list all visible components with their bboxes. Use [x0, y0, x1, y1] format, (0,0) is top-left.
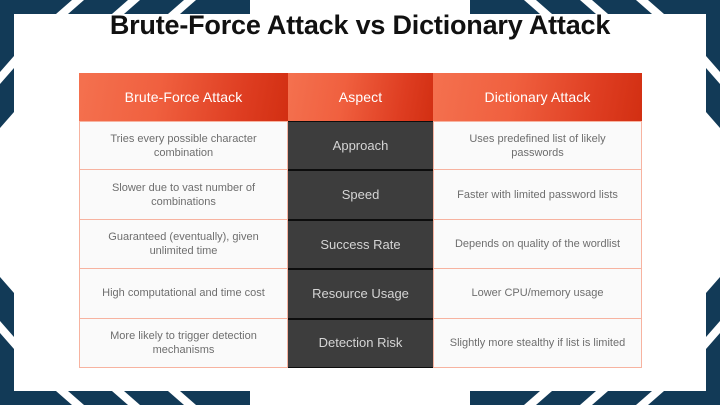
cell-brute-force: High computational and time cost [79, 269, 288, 318]
cell-brute-force: Slower due to vast number of combination… [79, 170, 288, 219]
cell-dictionary: Lower CPU/memory usage [433, 269, 642, 318]
column-header-dictionary-label: Dictionary Attack [485, 89, 591, 105]
cell-aspect: Approach [288, 121, 433, 170]
column-header-aspect: Aspect [288, 73, 433, 121]
table-row: Guaranteed (eventually), given unlimited… [79, 220, 642, 269]
table-header-row: Brute-Force Attack Aspect Dictionary Att… [79, 73, 642, 121]
cell-aspect: Speed [288, 170, 433, 219]
cell-brute-force: More likely to trigger detection mechani… [79, 319, 288, 368]
cell-dictionary-text: Slightly more stealthy if list is limite… [450, 336, 625, 350]
column-header-brute-force-label: Brute-Force Attack [125, 89, 243, 105]
cell-brute-force-text: Guaranteed (eventually), given unlimited… [88, 230, 279, 258]
table-row: High computational and time cost Resourc… [79, 269, 642, 318]
table-row: More likely to trigger detection mechani… [79, 319, 642, 368]
cell-aspect: Detection Risk [288, 319, 433, 368]
cell-dictionary-text: Uses predefined list of likely passwords [442, 132, 633, 160]
slide-canvas: Brute-Force Attack vs Dictionary Attack … [0, 0, 720, 405]
cell-aspect-text: Approach [333, 138, 389, 154]
cell-dictionary-text: Lower CPU/memory usage [471, 286, 603, 300]
cell-dictionary-text: Depends on quality of the wordlist [455, 237, 620, 251]
cell-aspect-text: Resource Usage [312, 286, 409, 302]
comparison-table: Brute-Force Attack Aspect Dictionary Att… [79, 73, 642, 368]
column-header-dictionary: Dictionary Attack [433, 73, 642, 121]
cell-brute-force-text: More likely to trigger detection mechani… [88, 329, 279, 357]
cell-brute-force: Guaranteed (eventually), given unlimited… [79, 220, 288, 269]
column-header-aspect-label: Aspect [339, 89, 382, 105]
cell-dictionary: Depends on quality of the wordlist [433, 220, 642, 269]
column-header-brute-force: Brute-Force Attack [79, 73, 288, 121]
table-row: Slower due to vast number of combination… [79, 170, 642, 219]
cell-dictionary: Uses predefined list of likely passwords [433, 121, 642, 170]
cell-aspect-text: Detection Risk [319, 335, 403, 351]
cell-dictionary-text: Faster with limited password lists [457, 188, 618, 202]
cell-brute-force-text: Slower due to vast number of combination… [88, 181, 279, 209]
cell-aspect-text: Speed [342, 187, 380, 203]
cell-dictionary: Slightly more stealthy if list is limite… [433, 319, 642, 368]
cell-aspect: Resource Usage [288, 269, 433, 318]
cell-dictionary: Faster with limited password lists [433, 170, 642, 219]
table-row: Tries every possible character combinati… [79, 121, 642, 170]
cell-brute-force-text: High computational and time cost [102, 286, 265, 300]
cell-aspect-text: Success Rate [320, 237, 400, 253]
cell-aspect: Success Rate [288, 220, 433, 269]
page-title: Brute-Force Attack vs Dictionary Attack [0, 8, 720, 42]
cell-brute-force: Tries every possible character combinati… [79, 121, 288, 170]
cell-brute-force-text: Tries every possible character combinati… [88, 132, 279, 160]
